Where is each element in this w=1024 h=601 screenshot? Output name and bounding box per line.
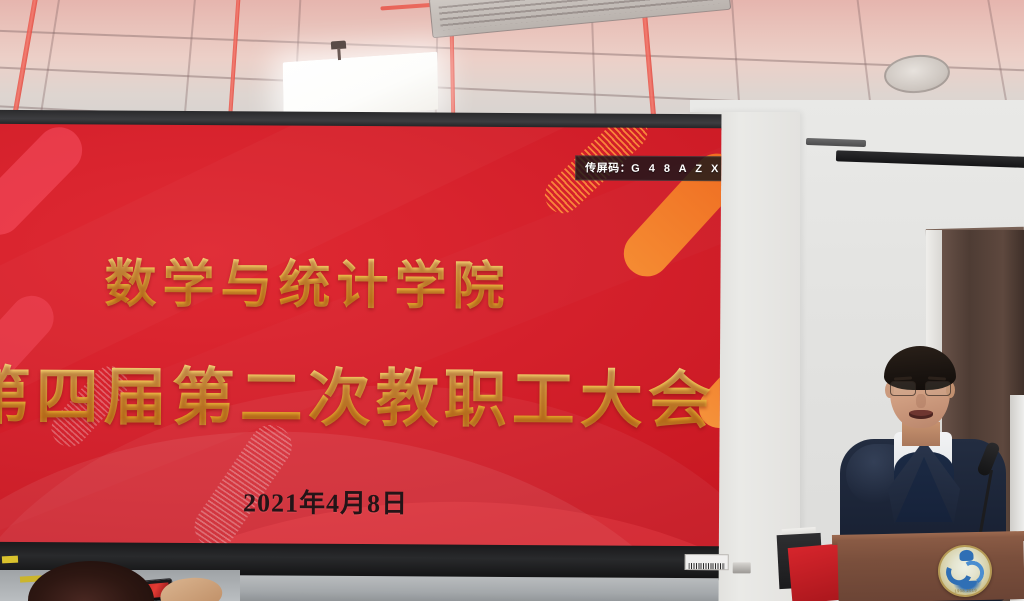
mouth [909, 410, 933, 419]
university-emblem-icon: 1908 2019 [937, 544, 993, 598]
foreground-marker [2, 556, 18, 564]
led-display[interactable]: 传屏码：G 4 8 A Z X 数学与统计学院 第四届第二次教职工大会 2021… [0, 110, 721, 601]
nose [916, 394, 926, 408]
slide-title-line-1: 数学与统计学院 [104, 241, 510, 318]
display-port [733, 562, 751, 573]
display-screen[interactable]: 传屏码：G 4 8 A Z X 数学与统计学院 第四届第二次教职工大会 2021… [0, 124, 721, 548]
ceiling-speaker-icon [882, 52, 951, 96]
podium [837, 536, 1024, 601]
air-conditioning-vent [429, 0, 731, 38]
glasses-icon [890, 381, 951, 395]
slide-date: 2021年4月8日 [243, 482, 408, 520]
ceiling-rail [640, 0, 658, 132]
slide-title-line-2: 第四届第二次教职工大会 [0, 346, 716, 442]
display-barcode-label [685, 554, 729, 570]
ceiling-light-panel [283, 52, 439, 121]
sprinkler-icon [331, 40, 347, 49]
conference-room-photo: 传屏码：G 4 8 A Z X 数学与统计学院 第四届第二次教职工大会 2021… [0, 0, 1024, 601]
slide-content: 数学与统计学院 第四届第二次教职工大会 2021年4月8日 [0, 124, 721, 548]
